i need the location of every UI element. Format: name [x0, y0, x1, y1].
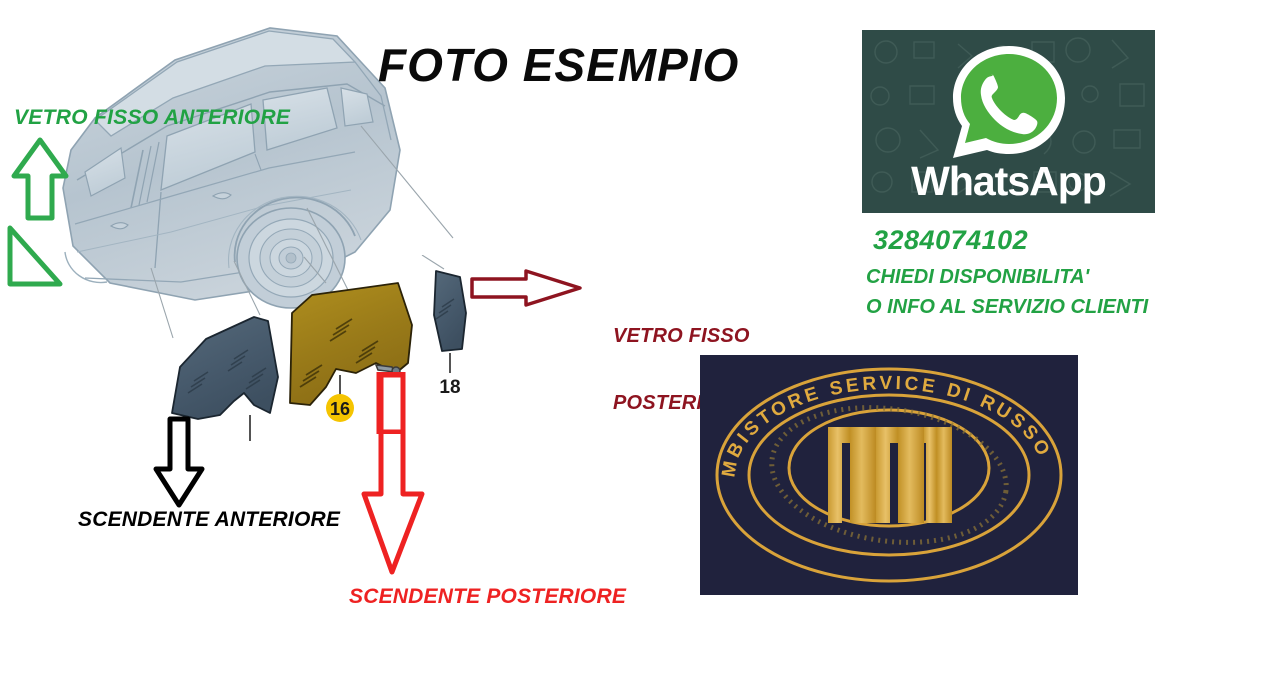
whatsapp-logo-icon — [945, 40, 1073, 166]
label-vetro-fisso-posteriore-line1: VETRO FISSO — [613, 325, 750, 347]
part-number-18: 18 — [439, 377, 460, 398]
whatsapp-wordmark: WhatsApp — [862, 158, 1155, 205]
label-vetro-fisso-anteriore: VETRO FISSO ANTERIORE — [14, 106, 290, 130]
page-title: FOTO ESEMPIO — [378, 38, 739, 92]
shop-logo: MRICAMBISTORE SERVICE DI RUSSO MARCO — [700, 355, 1078, 595]
dark-red-right-arrow-icon — [468, 268, 588, 308]
part-number-16-badge: 16 — [326, 394, 354, 422]
black-down-arrow-icon — [150, 415, 210, 510]
contact-line-1: CHIEDI DISPONIBILITA' — [866, 266, 1089, 289]
whatsapp-banner[interactable]: WhatsApp — [862, 30, 1155, 213]
contact-line-2: O INFO AL SERVIZIO CLIENTI — [866, 296, 1148, 319]
label-scendente-anteriore: SCENDENTE ANTERIORE — [78, 508, 340, 532]
red-highlight-box — [376, 372, 406, 434]
label-scendente-posteriore: SCENDENTE POSTERIORE — [349, 585, 626, 609]
poster-canvas: 14 18 17 16 — [0, 0, 1264, 678]
svg-text:16: 16 — [330, 399, 350, 419]
green-up-arrow-icon — [2, 132, 82, 292]
phone-number[interactable]: 3284074102 — [873, 225, 1028, 256]
